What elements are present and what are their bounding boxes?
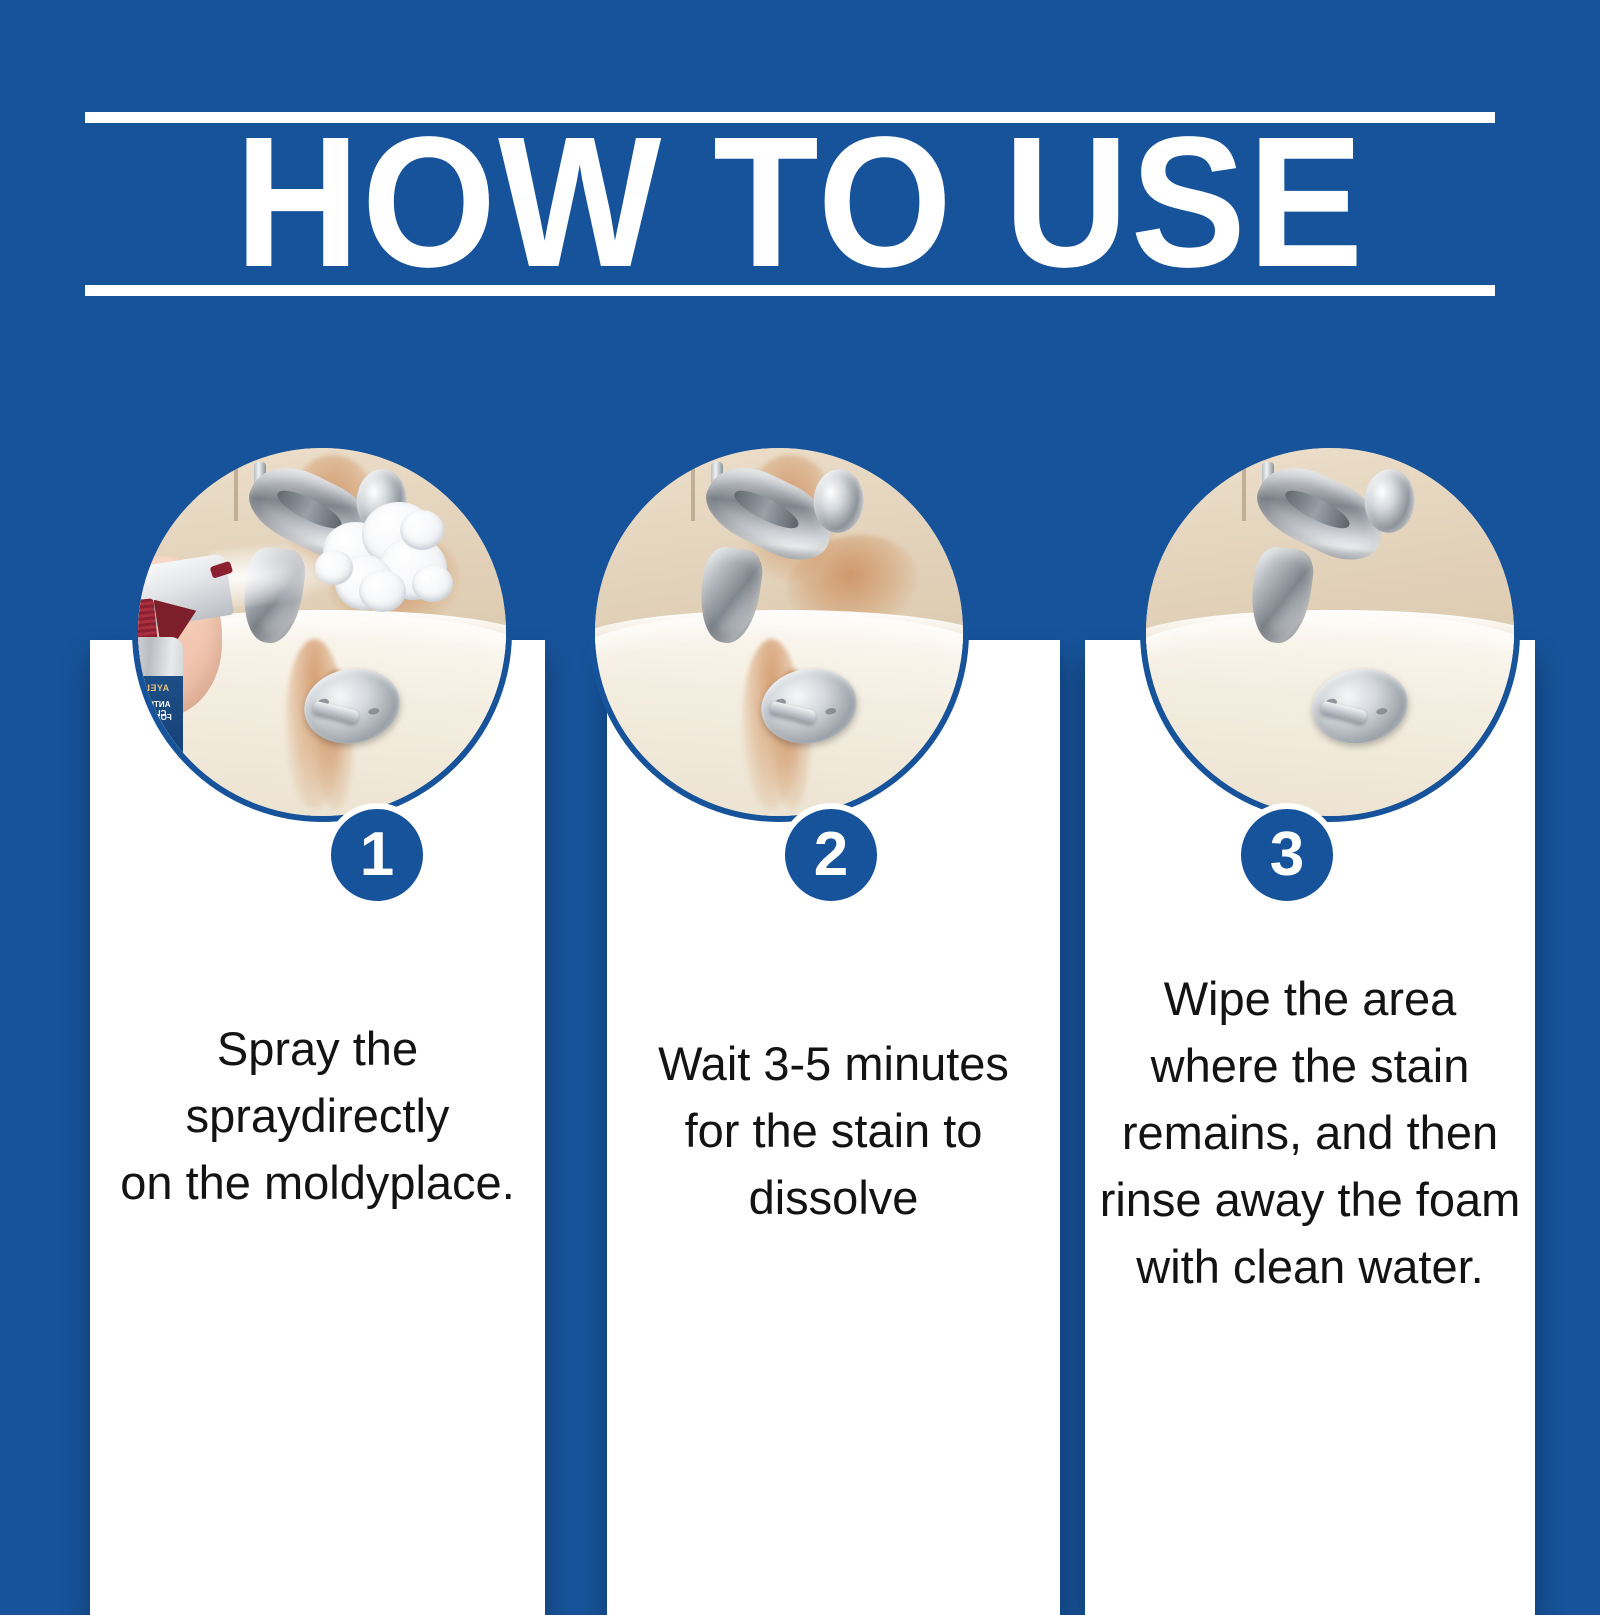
step-number-badge-1: 1 [325,803,429,907]
faucet-spout [1242,470,1411,676]
spray-nozzle [210,560,234,578]
bathroom-scene [595,448,963,816]
bottle-label-foam-image [132,728,158,763]
step-2-photo [589,442,969,822]
title-rule-bottom [85,285,1495,296]
spray-bottle-body: AYELEYAI ANTI-STAINS CLEANING FOAM SPRAY [132,637,183,816]
page-title: HOW TO USE [56,128,1544,278]
step-2-caption: Wait 3-5 minutes for the stain to dissol… [585,1030,1082,1231]
step-card-3: 3 Wipe the area where the stain remains,… [1085,640,1535,1615]
bathroom-scene: AYELEYAI ANTI-STAINS CLEANING FOAM SPRAY [138,448,506,816]
bathroom-scene [1146,448,1514,816]
step-3-caption: Wipe the area where the stain remains, a… [1063,965,1557,1300]
infographic-root: HOW TO USE [0,0,1600,1600]
faucet-spout [691,470,860,676]
bottle-brand-text: AYELEYAI [132,683,183,693]
bottle-label-strip [132,768,183,794]
step-3-photo [1140,442,1520,822]
step-1-caption: Spray the spraydirectly on the moldyplac… [68,1015,567,1216]
step-card-1: AYELEYAI ANTI-STAINS CLEANING FOAM SPRAY… [90,640,545,1615]
drain-lever [311,700,359,723]
step-1-photo: AYELEYAI ANTI-STAINS CLEANING FOAM SPRAY [132,442,512,822]
spout-neck [1245,545,1315,647]
spray-bottle-in-hand: AYELEYAI ANTI-STAINS CLEANING FOAM SPRAY [132,507,307,816]
drain-lever [768,700,816,723]
spout-neck [694,545,764,647]
bottle-label: AYELEYAI ANTI-STAINS CLEANING FOAM SPRAY [132,676,183,794]
bottle-label-line-2: FOAM SPRAY [132,713,183,722]
step-number-badge-3: 3 [1235,803,1339,907]
drain-lever [1319,700,1367,723]
plate-screw [825,707,837,715]
step-number-badge-2: 2 [779,803,883,907]
plate-screw [368,707,380,715]
plate-screw [1376,707,1388,715]
header: HOW TO USE [0,0,1600,330]
step-card-2: 2 Wait 3-5 minutes for the stain to diss… [607,640,1060,1615]
